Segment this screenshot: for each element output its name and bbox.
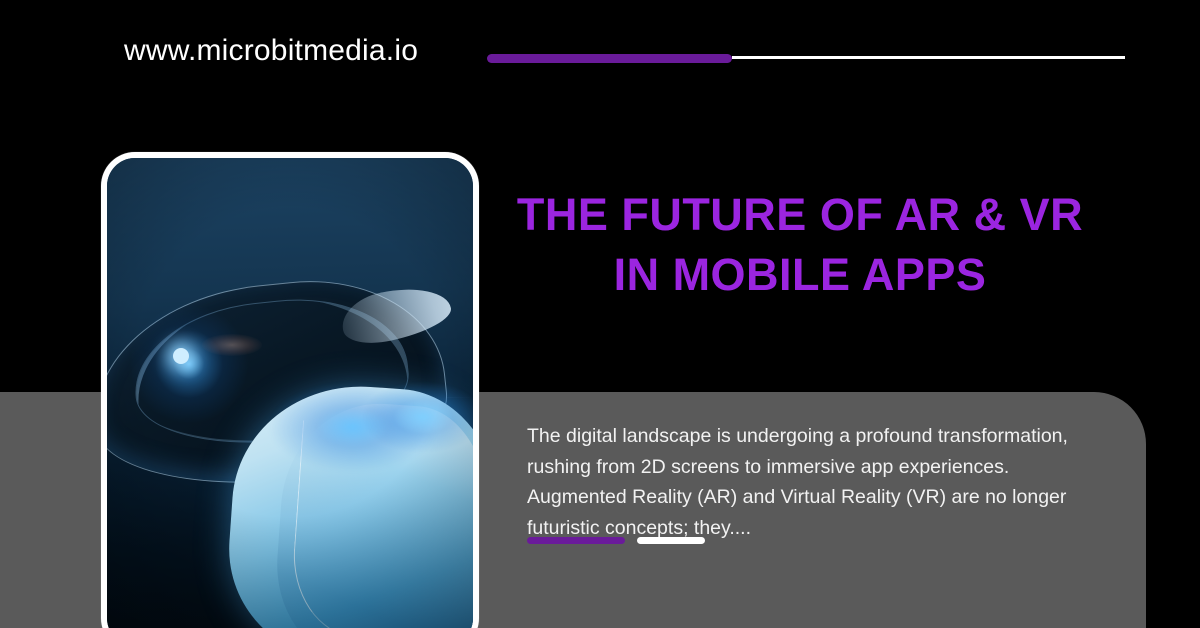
poster-canvas: www.microbitmedia.io THE FUTURE OF AR & …	[0, 0, 1200, 628]
vr-vignette	[107, 158, 473, 628]
site-url-text: www.microbitmedia.io	[124, 34, 418, 68]
body-paragraph: The digital landscape is undergoing a pr…	[527, 421, 1093, 543]
page-title: THE FUTURE OF AR & VR IN MOBILE APPS	[500, 185, 1100, 305]
header-accent-bar	[487, 54, 732, 63]
phone-mockup	[101, 152, 479, 628]
footer-accent-bar-purple	[527, 537, 625, 544]
phone-screen	[107, 158, 473, 628]
footer-accent-bar-white	[637, 537, 705, 544]
header-divider-line	[732, 56, 1125, 59]
